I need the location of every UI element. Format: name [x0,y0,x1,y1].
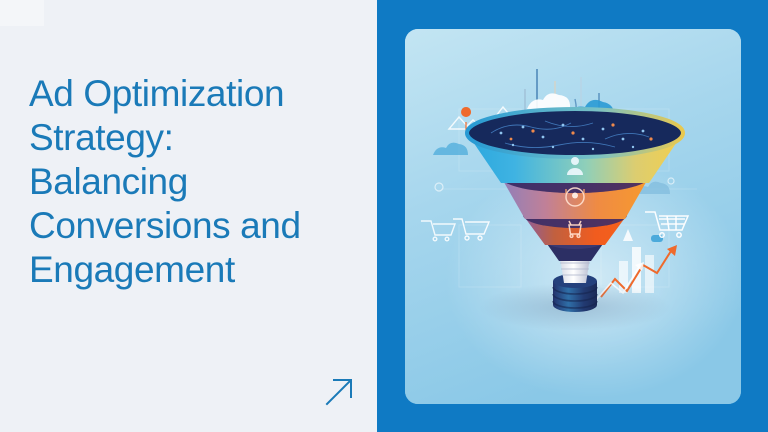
title-line-4: Conversions and [29,204,349,248]
title-line-3: Balancing [29,160,349,204]
funnel-band-awareness [467,109,683,183]
title-line-1: Ad Optimization [29,72,349,116]
left-text-panel: Ad Optimization Strategy: Balancing Conv… [0,0,377,432]
arrow-up-right-icon[interactable] [325,377,355,407]
slide: Ad Optimization Strategy: Balancing Conv… [0,0,768,432]
title-line-2: Strategy: [29,116,349,160]
page-title: Ad Optimization Strategy: Balancing Conv… [29,72,349,292]
title-line-5: Engagement [29,248,349,292]
right-image-panel [377,0,768,432]
funnel-illustration-svg [405,29,741,404]
funnel-illustration-card [405,29,741,404]
